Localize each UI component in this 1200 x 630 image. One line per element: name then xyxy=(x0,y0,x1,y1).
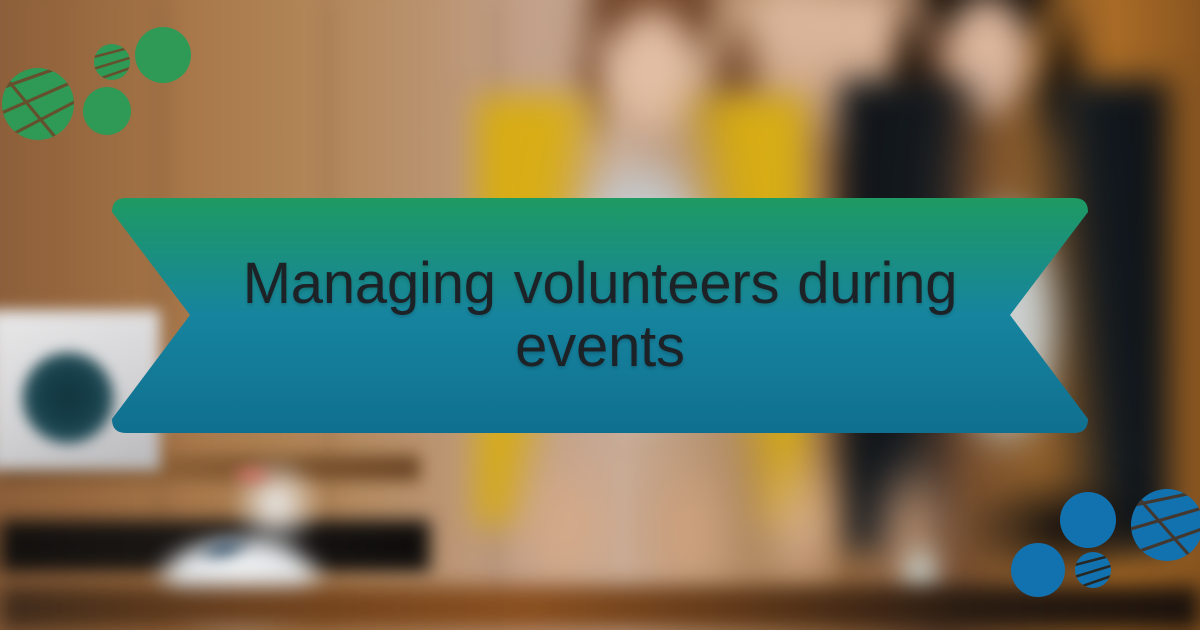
banner-title: Managing volunteers during events xyxy=(108,196,1092,435)
decoration-cluster-top-left xyxy=(0,0,210,160)
deco-striped-circle-large-green xyxy=(0,58,86,150)
deco-solid-circle-medium-blue xyxy=(1011,543,1065,597)
deco-striped-circle-large-blue xyxy=(1120,486,1200,572)
deco-solid-circle-medium-green xyxy=(83,87,131,135)
deco-striped-circle-small-blue xyxy=(1071,552,1117,590)
decoration-cluster-bottom-right xyxy=(1000,480,1200,630)
title-ribbon-banner: Managing volunteers during events xyxy=(108,196,1092,435)
deco-solid-circle-large-green xyxy=(135,27,191,83)
deco-solid-circle-large-blue xyxy=(1060,492,1116,548)
social-card-canvas: Managing volunteers during events xyxy=(0,0,1200,630)
deco-striped-circle-small-green xyxy=(90,44,136,82)
